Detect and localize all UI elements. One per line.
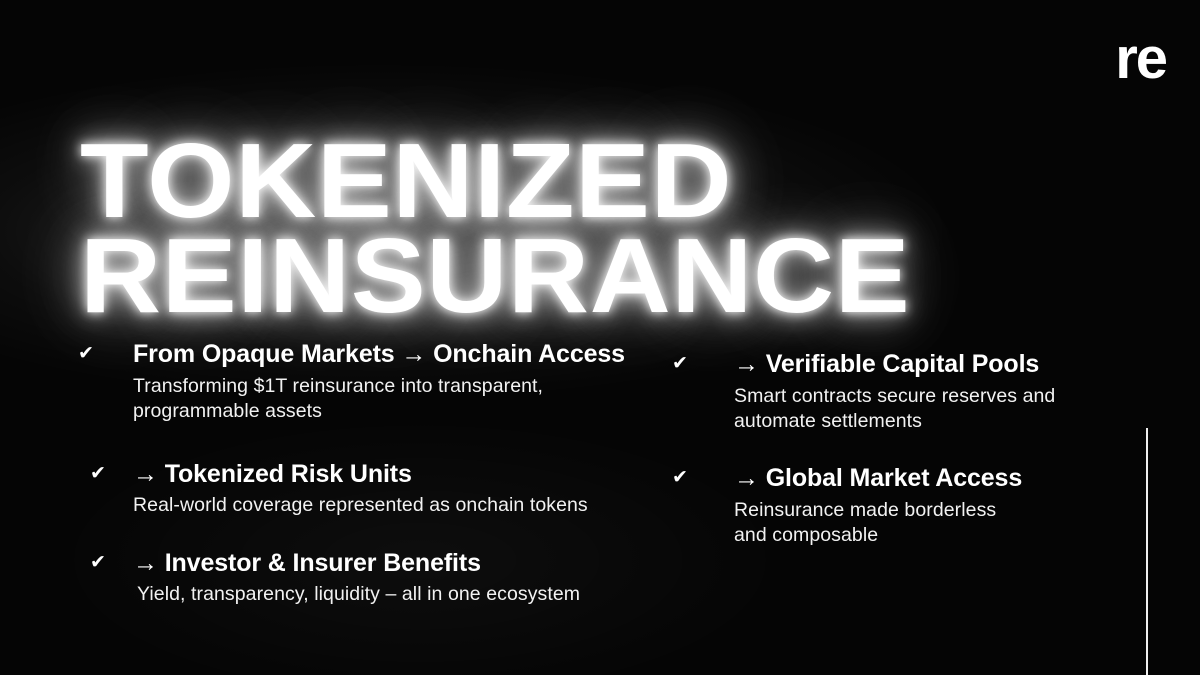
list-item-title: → Investor & Insurer Benefits bbox=[133, 549, 580, 579]
list-item-description-line-1: Yield, transparency, liquidity – all in … bbox=[137, 582, 580, 608]
list-item-description: Smart contracts secure reserves and auto… bbox=[734, 384, 1055, 435]
list-item-title: → Global Market Access bbox=[734, 464, 1022, 494]
page-title-line-1: TOKENIZED bbox=[80, 132, 910, 231]
list-item: ✔ → Verifiable Capital Pools Smart contr… bbox=[660, 350, 1055, 435]
list-item: ✔ From Opaque Markets → Onchain Access T… bbox=[78, 340, 625, 425]
page-title: TOKENIZED REINSURANCE bbox=[80, 132, 910, 325]
list-item-description-line-1: Real-world coverage represented as oncha… bbox=[133, 493, 588, 519]
slide-canvas: re TOKENIZED REINSURANCE ✔ From Opaque M… bbox=[0, 0, 1200, 675]
list-item-description-line-1: Transforming $1T reinsurance into transp… bbox=[133, 374, 625, 400]
list-item: ✔ → Investor & Insurer Benefits Yield, t… bbox=[78, 549, 580, 607]
list-item: ✔ → Global Market Access Reinsurance mad… bbox=[660, 464, 1022, 549]
right-vertical-rule bbox=[1146, 428, 1148, 675]
list-item-description: Transforming $1T reinsurance into transp… bbox=[133, 374, 625, 425]
check-icon: ✔ bbox=[672, 468, 698, 487]
list-item-description: Reinsurance made borderless and composab… bbox=[734, 498, 1022, 549]
list-item: ✔ → Tokenized Risk Units Real-world cove… bbox=[78, 460, 588, 518]
list-item-title: → Tokenized Risk Units bbox=[133, 460, 588, 490]
page-title-line-2: REINSURANCE bbox=[80, 227, 910, 326]
check-icon: ✔ bbox=[672, 354, 698, 373]
brand-logo: re bbox=[1115, 30, 1166, 88]
list-item-description: Real-world coverage represented as oncha… bbox=[133, 493, 588, 519]
check-icon: ✔ bbox=[90, 553, 116, 572]
list-item-title: From Opaque Markets → Onchain Access bbox=[133, 340, 625, 370]
list-item-description-line-1: Smart contracts secure reserves and bbox=[734, 384, 1055, 410]
list-item-description-line-2: programmable assets bbox=[133, 399, 625, 425]
check-icon: ✔ bbox=[90, 464, 116, 483]
list-item-description-line-2: automate settlements bbox=[734, 409, 1055, 435]
list-item-description: Yield, transparency, liquidity – all in … bbox=[137, 582, 580, 608]
list-item-title: → Verifiable Capital Pools bbox=[734, 350, 1055, 380]
check-icon: ✔ bbox=[78, 344, 104, 363]
list-item-description-line-2: and composable bbox=[734, 523, 1022, 549]
list-item-description-line-1: Reinsurance made borderless bbox=[734, 498, 1022, 524]
